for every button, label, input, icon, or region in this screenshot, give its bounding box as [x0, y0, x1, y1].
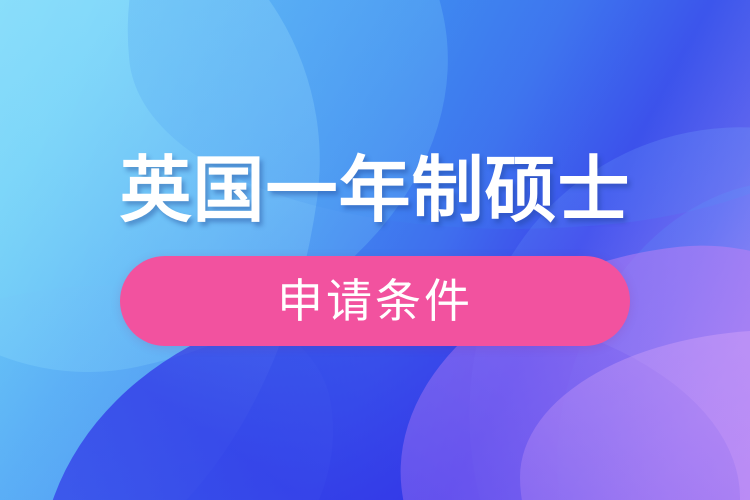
apply-requirements-button[interactable]: 申请条件 — [120, 256, 630, 346]
promo-banner: 英国一年制硕士 申请条件 — [0, 0, 750, 500]
banner-content: 英国一年制硕士 申请条件 — [0, 0, 750, 500]
banner-headline: 英国一年制硕士 — [119, 154, 630, 226]
